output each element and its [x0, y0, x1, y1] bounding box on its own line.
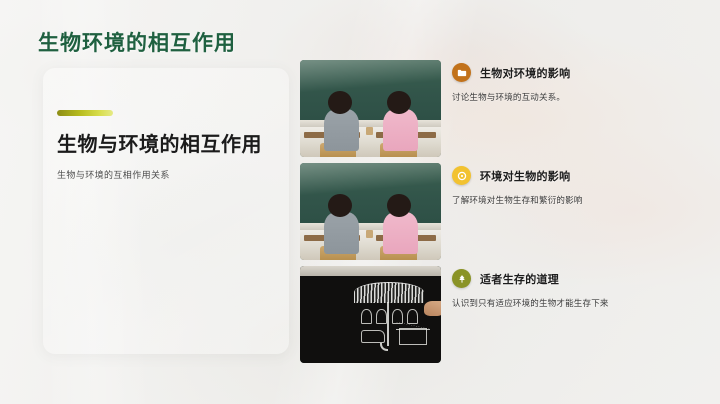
list-item[interactable]: 生物对环境的影响 讨论生物与环境的互动关系。 [300, 60, 712, 157]
thumbnail-classroom [300, 163, 441, 260]
hero-subtitle: 生物与环境的互相作用关系 [57, 168, 170, 181]
list-item-title: 适者生存的道理 [480, 271, 559, 287]
list-item-text: 环境对生物的影响 了解环境对生物生存和繁衍的影响 [452, 166, 712, 206]
accent-bar [57, 110, 113, 116]
list-item-title: 生物对环境的影响 [480, 65, 570, 81]
list-item-text: 生物对环境的影响 讨论生物与环境的互动关系。 [452, 63, 712, 103]
thumbnail-blackboard [300, 266, 441, 363]
tree-icon [452, 269, 471, 288]
list-item-desc: 认识到只有适应环境的生物才能生存下来 [452, 297, 712, 309]
hero-heading: 生物与环境的相互作用 [57, 128, 287, 157]
list-item-desc: 了解环境对生物生存和繁衍的影响 [452, 194, 712, 206]
content-list: 生物对环境的影响 讨论生物与环境的互动关系。 环境对生物的影响 了解环境对生物生… [300, 60, 712, 369]
list-item-title: 环境对生物的影响 [480, 168, 570, 184]
thumbnail-classroom [300, 60, 441, 157]
list-item[interactable]: 适者生存的道理 认识到只有适应环境的生物才能生存下来 [300, 266, 712, 363]
folder-icon [452, 63, 471, 82]
page-title: 生物环境的相互作用 [38, 27, 236, 57]
list-item-desc: 讨论生物与环境的互动关系。 [452, 91, 712, 103]
list-item[interactable]: 环境对生物的影响 了解环境对生物生存和繁衍的影响 [300, 163, 712, 260]
target-icon [452, 166, 471, 185]
list-item-text: 适者生存的道理 认识到只有适应环境的生物才能生存下来 [452, 269, 712, 309]
